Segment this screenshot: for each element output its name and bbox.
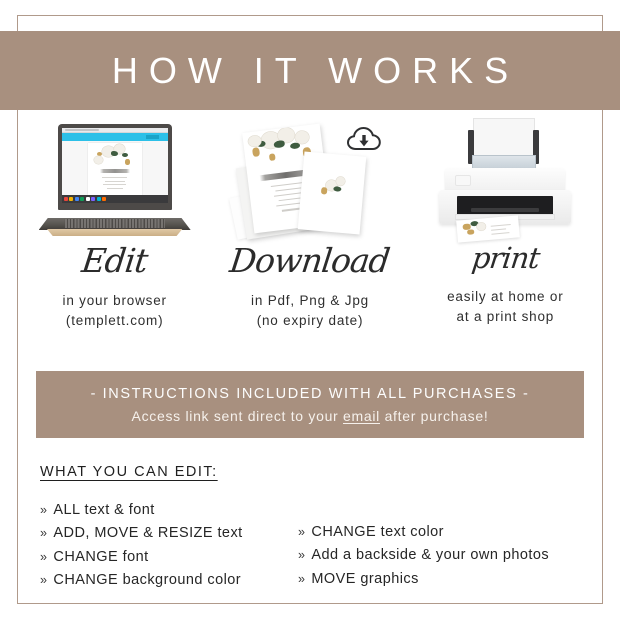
edit-list-left: » ALL text & font » ADD, MOVE & RESIZE t…	[40, 499, 298, 593]
list-item: » CHANGE background color	[40, 569, 298, 592]
chevron-double-right-icon: »	[298, 522, 305, 542]
invitation-card-detail	[298, 151, 367, 234]
printer-paper-stack	[473, 118, 535, 160]
laptop-screen	[62, 128, 168, 203]
step-script-label: Edit	[80, 244, 149, 277]
list-item: » CHANGE font	[40, 546, 298, 569]
printed-invitation	[456, 215, 520, 242]
laptop-base	[43, 229, 187, 236]
list-item: » ADD, MOVE & RESIZE text	[40, 522, 298, 545]
step-caption: in your browser (templett.com)	[63, 291, 167, 330]
step-caption-line1: in your browser	[63, 291, 167, 311]
list-item-label: Add a backside & your own photos	[311, 544, 549, 567]
steps-row: Edit in your browser (templett.com)	[17, 118, 603, 348]
laptop-keyboard	[39, 218, 191, 230]
step-edit: Edit in your browser (templett.com)	[17, 118, 212, 348]
step-caption-line2: (no expiry date)	[251, 311, 369, 331]
chevron-double-right-icon: »	[40, 523, 47, 543]
chevron-double-right-icon: »	[40, 500, 47, 520]
banner-headline: - INSTRUCTIONS INCLUDED WITH ALL PURCHAS…	[91, 386, 530, 402]
printer-output-slot	[457, 196, 553, 216]
list-item: » MOVE graphics	[298, 568, 580, 591]
invitation-preview	[88, 143, 142, 199]
list-item: » ALL text & font	[40, 499, 298, 522]
instructions-banner: - INSTRUCTIONS INCLUDED WITH ALL PURCHAS…	[36, 371, 584, 438]
edit-list-right: » CHANGE text color » Add a backside & y…	[298, 499, 580, 593]
chevron-double-right-icon: »	[40, 547, 47, 567]
list-item: » CHANGE text color	[298, 521, 580, 544]
banner-subline: Access link sent direct to your email af…	[132, 408, 489, 424]
step-script-label: Download	[228, 244, 391, 277]
browser-viewport	[62, 141, 168, 195]
step-caption-line1: in Pdf, Png & Jpg	[251, 291, 369, 311]
step-print: print easily at home or at a print shop	[408, 118, 603, 348]
os-taskbar	[62, 195, 168, 203]
step-caption: easily at home or at a print shop	[447, 287, 563, 326]
list-item-label: MOVE graphics	[311, 568, 418, 591]
chevron-double-right-icon: »	[40, 570, 47, 590]
banner-subline-before: Access link sent direct to your	[132, 408, 343, 424]
edit-heading-wrap: WHAT YOU CAN EDIT:	[40, 463, 580, 481]
list-item-label: ADD, MOVE & RESIZE text	[53, 522, 242, 545]
browser-toolbar	[62, 133, 168, 141]
list-item: » Add a backside & your own photos	[298, 544, 580, 567]
email-link[interactable]: email	[343, 408, 380, 424]
invitation-cards-cloud-download-icon	[212, 118, 407, 240]
step-caption-line2: (templett.com)	[63, 311, 167, 331]
edit-columns: » ALL text & font » ADD, MOVE & RESIZE t…	[40, 499, 580, 593]
laptop-lid	[58, 124, 172, 210]
list-item-label: CHANGE text color	[311, 521, 444, 544]
what-you-can-edit-section: WHAT YOU CAN EDIT: » ALL text & font » A…	[40, 463, 580, 593]
inkjet-printer-icon	[408, 118, 603, 240]
edit-heading: WHAT YOU CAN EDIT:	[40, 464, 218, 480]
step-caption-line1: easily at home or	[447, 287, 563, 307]
list-item-label: CHANGE background color	[53, 569, 241, 592]
step-script-label: print	[470, 244, 541, 273]
step-download: Download in Pdf, Png & Jpg (no expiry da…	[212, 118, 407, 348]
step-caption: in Pdf, Png & Jpg (no expiry date)	[251, 291, 369, 330]
header-band: HOW IT WORKS	[0, 31, 620, 110]
laptop-browser-icon	[17, 118, 212, 240]
step-caption-line2: at a print shop	[447, 307, 563, 327]
cloud-download-icon	[347, 126, 381, 152]
list-item-label: ALL text & font	[53, 499, 154, 522]
list-item-label: CHANGE font	[53, 546, 148, 569]
chevron-double-right-icon: »	[298, 569, 305, 589]
page-title: HOW IT WORKS	[101, 50, 519, 92]
banner-subline-after: after purchase!	[380, 408, 488, 424]
chevron-double-right-icon: »	[298, 545, 305, 565]
